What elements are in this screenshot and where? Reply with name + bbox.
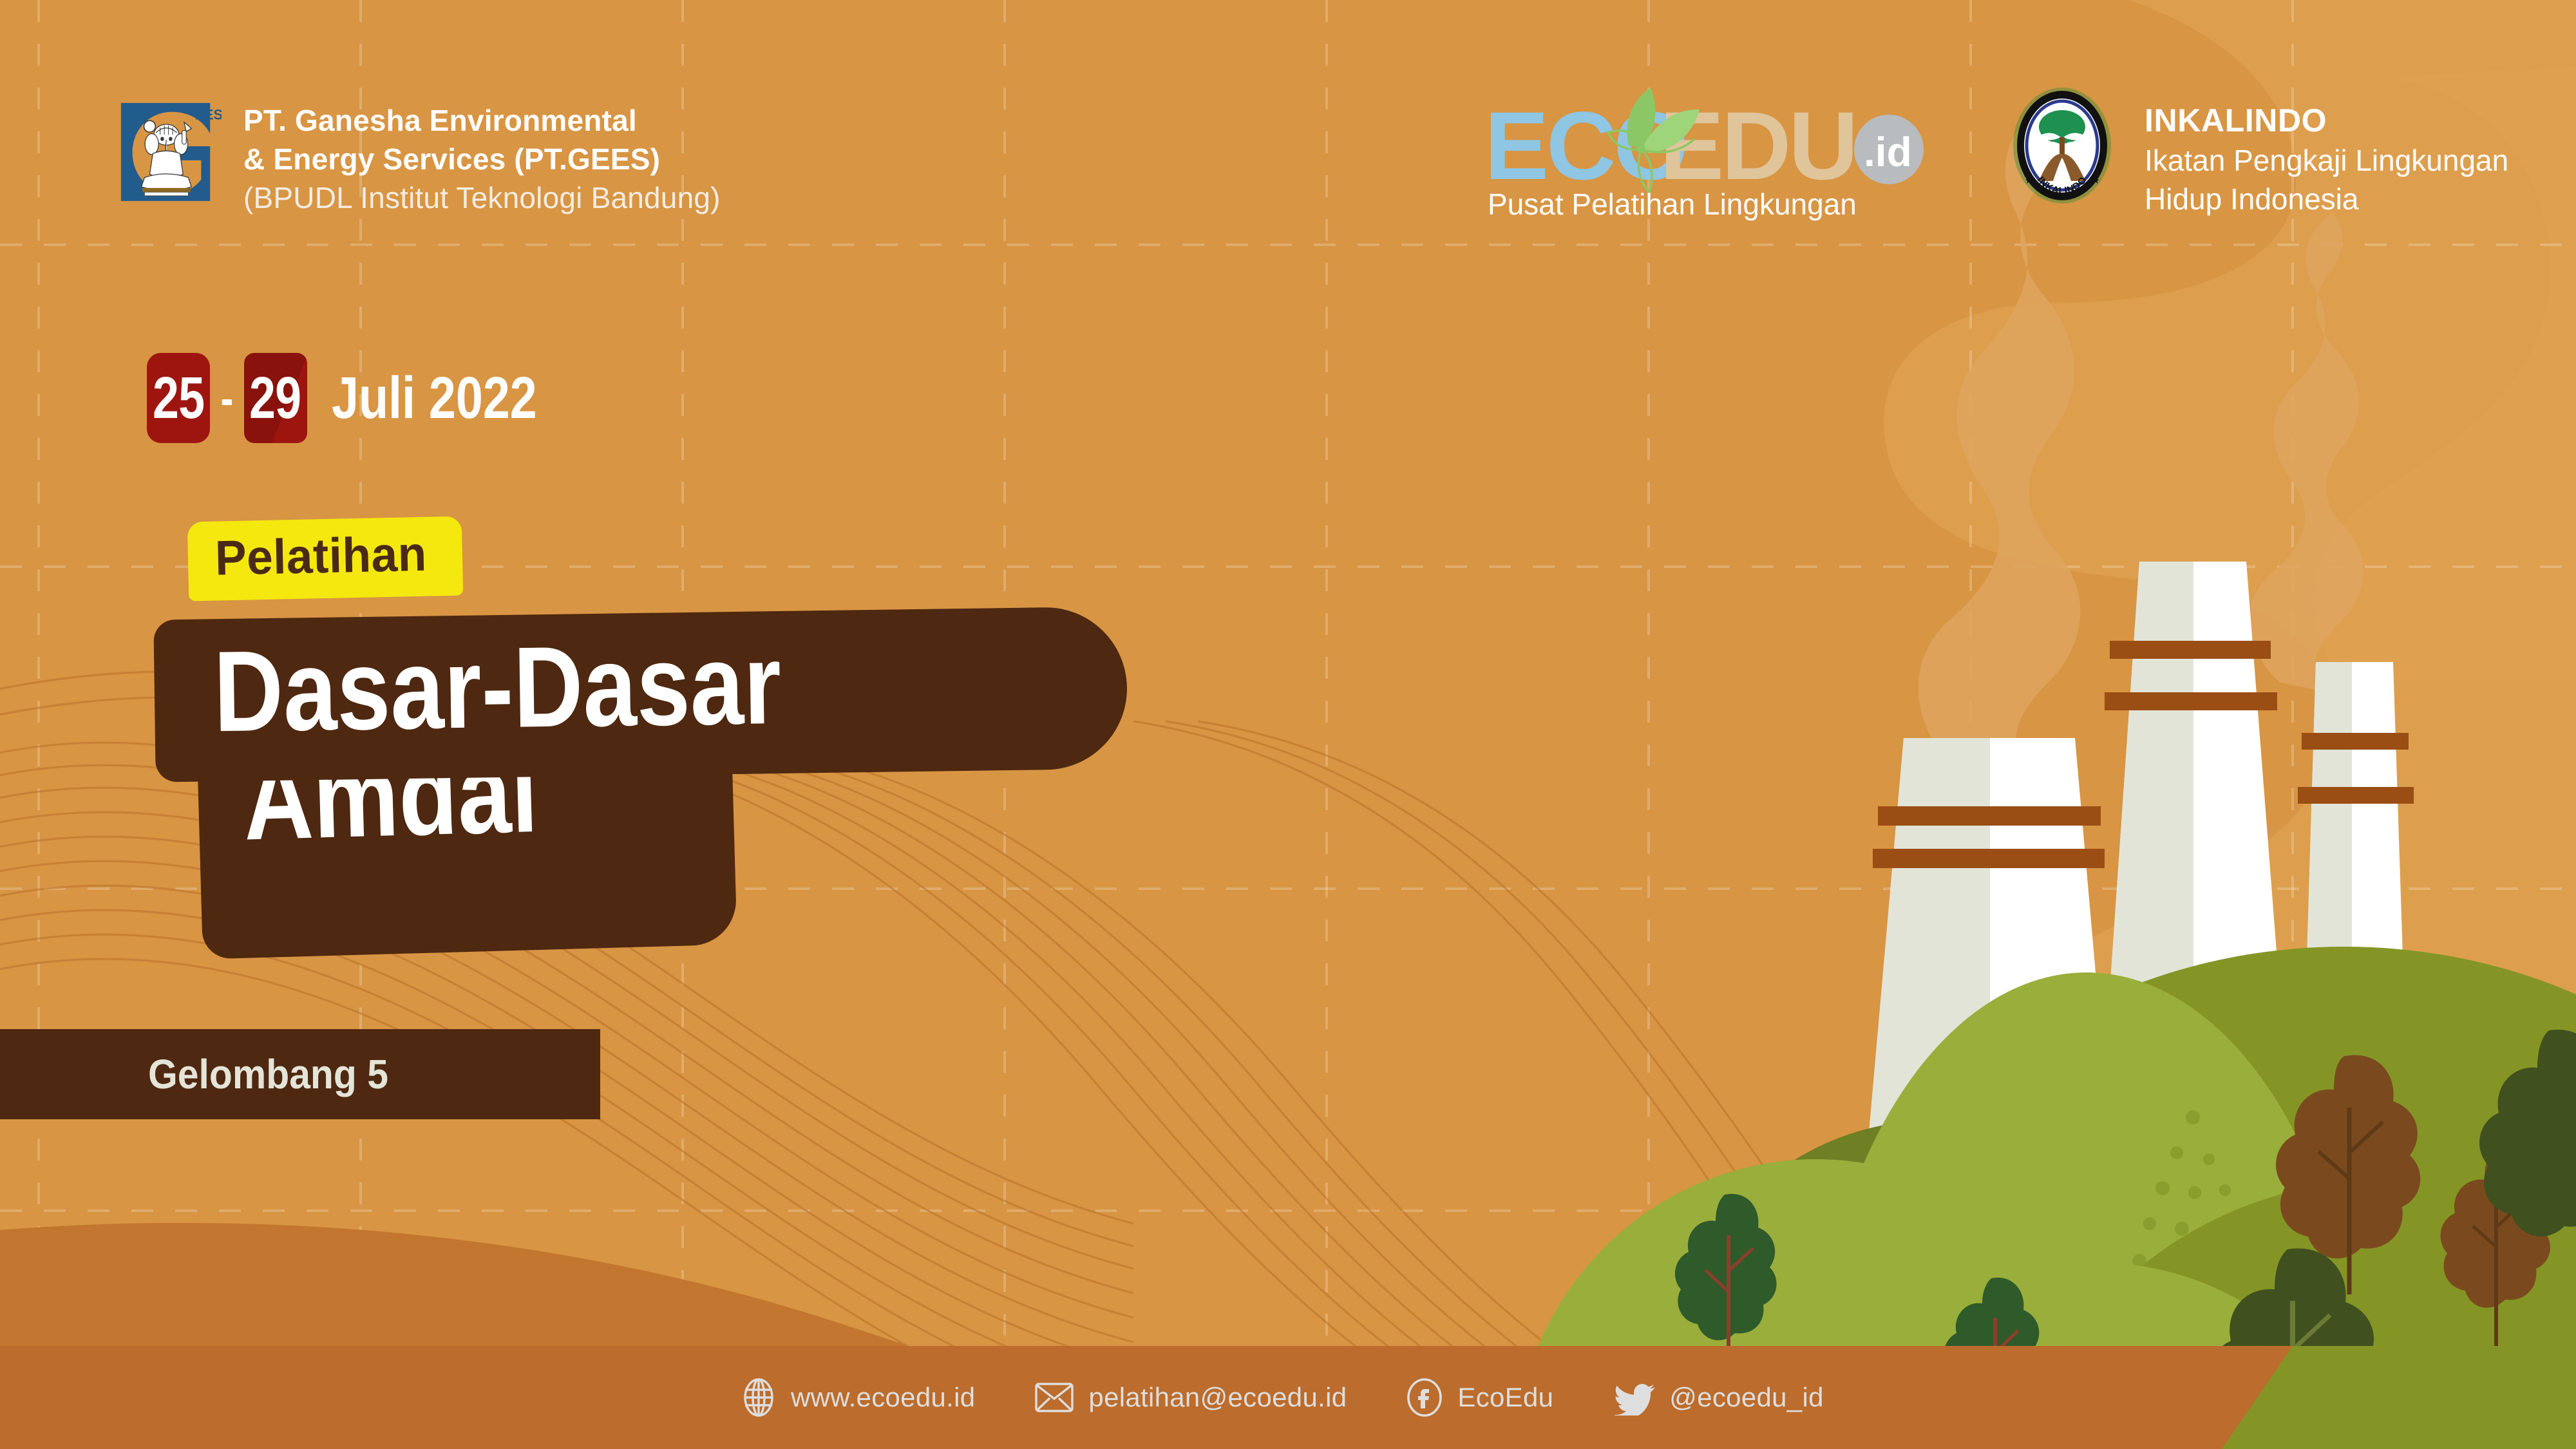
svg-text:EES: EES bbox=[194, 107, 222, 123]
globe-icon bbox=[741, 1378, 777, 1417]
title-block-line1: Dasar-Dasar bbox=[153, 606, 1128, 782]
inkalindo-name: INKALINDO bbox=[2145, 100, 2508, 142]
contact-email[interactable]: pelatihan@ecoedu.id bbox=[1034, 1382, 1347, 1413]
kicker-label: Pelatihan bbox=[214, 526, 427, 587]
date-start-value: 25 bbox=[153, 365, 204, 432]
contact-facebook[interactable]: EcoEdu bbox=[1406, 1378, 1553, 1417]
svg-text:★: ★ bbox=[2025, 175, 2033, 185]
facebook-icon bbox=[1406, 1378, 1443, 1417]
promo-banner: EES PT. Ganesha Environmental & Energy S… bbox=[0, 0, 2576, 1449]
title-line-1: Dasar-Dasar bbox=[213, 616, 782, 759]
svg-text:.id: .id bbox=[1864, 129, 1912, 175]
date-separator: - bbox=[213, 371, 240, 426]
inkalindo-text: INKALINDO Ikatan Pengkaji Lingkungan Hid… bbox=[2145, 100, 2508, 219]
gees-ganesha-logo: EES bbox=[113, 98, 222, 206]
facebook-label: EcoEdu bbox=[1457, 1382, 1553, 1413]
date-end-value: 29 bbox=[250, 365, 301, 432]
twitter-icon bbox=[1613, 1379, 1655, 1416]
envelope-icon bbox=[1034, 1382, 1074, 1413]
event-date-row: 25 - 29 Juli 2022 bbox=[147, 353, 582, 443]
gees-line-1: PT. Ganesha Environmental bbox=[243, 102, 721, 140]
gees-company-text: PT. Ganesha Environmental & Energy Servi… bbox=[243, 102, 721, 217]
inkalindo-desc-2: Hidup Indonesia bbox=[2145, 180, 2508, 219]
inkalindo-desc-1: Ikatan Pengkaji Lingkungan bbox=[2145, 142, 2508, 180]
svg-text:★: ★ bbox=[2092, 175, 2100, 185]
wave-label: Gelombang 5 bbox=[148, 1050, 388, 1098]
inkalindo-tree-seal: IKATAN PENGKAJI LINGKUNGAN HIDUP INDONES… bbox=[2011, 87, 2114, 204]
footer-contact-row: www.ecoedu.id pelatihan@ecoedu.id EcoEdu… bbox=[0, 1346, 2576, 1449]
contact-twitter[interactable]: @ecoedu_id bbox=[1613, 1379, 1823, 1416]
gees-line-3: (BPUDL Institut Teknologi Bandung) bbox=[243, 179, 721, 218]
email-label: pelatihan@ecoedu.id bbox=[1088, 1382, 1347, 1413]
date-month-year: Juli 2022 bbox=[332, 365, 537, 432]
svg-text:EDU: EDU bbox=[1660, 91, 1856, 200]
gees-line-2: & Energy Services (PT.GEES) bbox=[243, 140, 721, 179]
twitter-label: @ecoedu_id bbox=[1669, 1382, 1823, 1413]
date-badge-end: 29 bbox=[244, 353, 307, 443]
website-label: www.ecoedu.id bbox=[791, 1382, 975, 1413]
contact-website[interactable]: www.ecoedu.id bbox=[741, 1378, 975, 1417]
wave-bar: Gelombang 5 bbox=[0, 1029, 600, 1119]
ecoedu-tagline: Pusat Pelatihan Lingkungan bbox=[1488, 187, 1857, 222]
kicker-tag: Pelatihan bbox=[187, 516, 464, 601]
date-badge-start: 25 bbox=[147, 353, 210, 443]
